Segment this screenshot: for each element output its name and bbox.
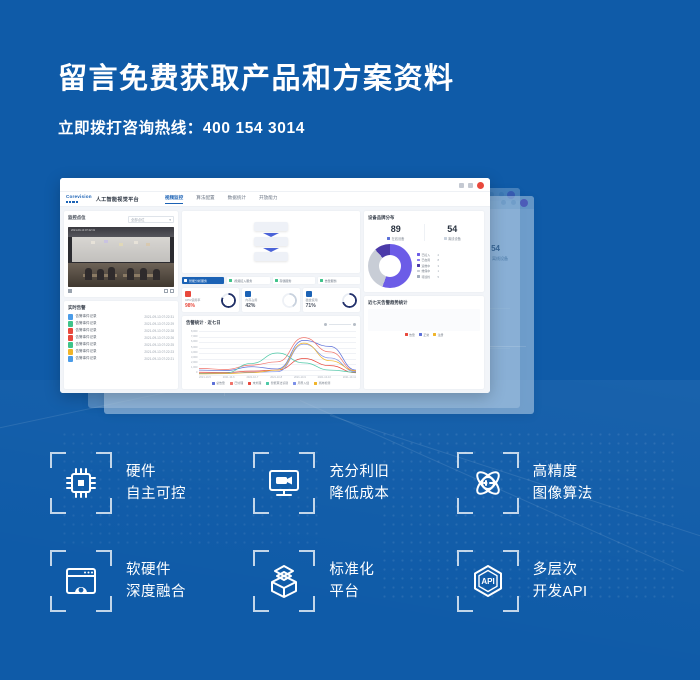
gauge-disk: 磁盘使用 71% xyxy=(303,288,360,312)
feature-line2: 开发API xyxy=(533,581,588,603)
memory-icon xyxy=(245,291,251,297)
list-item[interactable]: 告警事件记录 2021-09-13 07:22:31 xyxy=(68,314,174,320)
list-item[interactable]: 告警事件记录 2021-09-13 07:22:21 xyxy=(68,356,174,362)
feature-line1: 多层次 xyxy=(533,559,588,581)
event-type-icon xyxy=(68,356,73,362)
feature-line1: 硬件 xyxy=(126,461,186,483)
list-item[interactable]: 告警事件记录 2021-09-13 07:22:28 xyxy=(68,328,174,334)
api-icon: API xyxy=(470,563,506,599)
disk-icon xyxy=(306,291,312,297)
event-type-icon xyxy=(68,314,73,320)
chart-x-axis: 2021-10-5 2021-10-6 2021-10-7 2021-10-8 … xyxy=(199,376,356,379)
list-item[interactable]: 告警事件记录 2021-09-13 07:22:29 xyxy=(68,321,174,327)
status-dot-icon xyxy=(275,279,278,282)
logo-text: Corevision xyxy=(66,195,92,200)
feature-line1: 软硬件 xyxy=(126,559,186,581)
legend-item[interactable]: 待巡检5 xyxy=(417,275,439,279)
kpi-offline: 54 离线设备 xyxy=(424,224,481,241)
cpu-icon xyxy=(185,291,191,297)
feature-algorithm[interactable]: 高精度 图像算法 xyxy=(457,452,660,514)
dashboard-body: 监控点位 全部点位 ▾ xyxy=(60,207,490,393)
feature-line1: 充分利旧 xyxy=(329,461,389,483)
donut-legend: 已接入2 已启用8 运维中3 维保中1 待巡检5 xyxy=(417,253,439,279)
legend-item[interactable]: 运维中3 xyxy=(417,264,439,268)
event-panel-title: 实时告警 xyxy=(68,305,174,311)
chart-y-axis: 8,000 7,000 6,000 5,000 4,000 3,000 2,00… xyxy=(186,331,199,375)
tab-statistics[interactable]: 数据统计 xyxy=(228,195,246,203)
list-item[interactable]: 告警事件记录 2021-09-13 07:22:23 xyxy=(68,349,174,355)
page-title: 留言免费获取产品和方案资料 xyxy=(58,62,455,97)
feature-reuse[interactable]: 充分利旧 降低成本 xyxy=(253,452,456,514)
legend-item[interactable]: 总告警 xyxy=(212,381,225,385)
mini-chart-plot xyxy=(368,309,480,331)
feature-platform[interactable]: 标准化 平台 xyxy=(253,550,456,612)
gauge-ring xyxy=(342,293,357,308)
chip-icon xyxy=(63,465,99,501)
dashboard-window: Corevision 人工智能视觉平台 视频监控 算法配置 数据统计 开放能力 … xyxy=(60,178,490,393)
chip-video-service[interactable]: 视频接入服务 xyxy=(227,277,269,284)
device-summary-panel: 设备品牌分布 89 在线设备 54 离线设备 xyxy=(364,211,484,292)
feature-line1: 高精度 xyxy=(533,461,593,483)
stack-icon xyxy=(254,222,288,262)
device-donut-chart xyxy=(368,244,412,288)
chart-range-slider[interactable] xyxy=(324,323,356,326)
svg-text:API: API xyxy=(481,577,494,586)
feature-line1: 标准化 xyxy=(329,559,374,581)
kpi-online: 89 在线设备 xyxy=(368,224,424,241)
chart-legend: 总告警 已处理 未处理 智能算法识别 周界入侵 离岗检测 xyxy=(186,381,356,385)
kpi-row: 89 在线设备 54 离线设备 xyxy=(368,224,480,241)
status-dot-icon xyxy=(229,279,232,282)
device-summary-title: 设备品牌分布 xyxy=(368,215,480,221)
legend-item[interactable]: 周界入侵 xyxy=(293,381,309,385)
legend-item[interactable]: 未处理 xyxy=(248,381,261,385)
event-type-icon xyxy=(68,335,73,341)
feature-line2: 平台 xyxy=(329,581,374,603)
event-list[interactable]: 告警事件记录 2021-09-13 07:22:31 告警事件记录 2021-0… xyxy=(68,314,174,362)
tab-open-capability[interactable]: 开放能力 xyxy=(259,195,277,203)
online-dot-icon xyxy=(387,237,390,240)
chart-title: 告警统计 · 近七日 xyxy=(186,320,221,326)
legend-item[interactable]: 正常 xyxy=(419,333,429,337)
list-item[interactable]: 告警事件记录 2021-09-13 07:22:25 xyxy=(68,342,174,348)
legend-item[interactable]: 注册 xyxy=(433,333,443,337)
chip-storage-service[interactable]: 存储服务 xyxy=(273,277,315,284)
chart-lines xyxy=(199,331,356,375)
list-item[interactable]: 告警事件记录 2021-09-13 07:22:26 xyxy=(68,335,174,341)
feature-integration[interactable]: 软硬件 深度融合 xyxy=(50,550,253,612)
service-stack-panel xyxy=(182,211,360,273)
mini-chart-legend: 告警 正常 注册 xyxy=(368,333,480,337)
cube-icon xyxy=(266,563,302,599)
status-dot-icon xyxy=(184,279,187,282)
video-feed[interactable]: 2021-09-13 07:22:31 xyxy=(68,227,174,287)
feature-api[interactable]: API 多层次 开发API xyxy=(457,550,660,612)
feature-hardware[interactable]: 硬件 自主可控 xyxy=(50,452,253,514)
monitor-icon xyxy=(266,465,302,501)
video-timestamp: 2021-09-13 07:22:31 xyxy=(71,229,95,232)
gauge-ring xyxy=(282,293,297,308)
browser-gear-icon xyxy=(63,563,99,599)
legend-item[interactable]: 告警 xyxy=(405,333,415,337)
trend-chart-panel: 告警统计 · 近七日 8,000 7,000 6,000 5,000 4,000 xyxy=(182,316,360,389)
feature-line2: 自主可控 xyxy=(126,483,186,505)
legend-item[interactable]: 维保中1 xyxy=(417,269,439,273)
gauge-memory: 内存占用 42% xyxy=(242,288,299,312)
video-panel-title: 监控点位 xyxy=(68,215,86,221)
mini-trend-panel: 近七天告警趋势统计 告警 正常 注册 xyxy=(364,296,484,390)
event-type-icon xyxy=(68,342,73,348)
service-chip-row: 智能分析服务 视频接入服务 存储服务 告警服务 xyxy=(182,277,360,284)
tab-algorithm-config[interactable]: 算法配置 xyxy=(196,195,214,203)
camera-select[interactable]: 全部点位 ▾ xyxy=(128,216,174,223)
atom-icon xyxy=(470,465,506,501)
legend-item[interactable]: 已处理 xyxy=(230,381,243,385)
event-type-icon xyxy=(68,321,73,327)
chart-plot-area xyxy=(199,331,356,375)
app-navbar: Corevision 人工智能视觉平台 视频监控 算法配置 数据统计 开放能力 xyxy=(60,192,490,207)
window-titlebar xyxy=(60,178,490,192)
event-panel: 实时告警 告警事件记录 2021-09-13 07:22:31 告警事件记录 2… xyxy=(64,301,178,389)
camera-select-value: 全部点位 xyxy=(131,217,145,222)
grid-view-icon[interactable] xyxy=(164,289,168,293)
event-type-icon xyxy=(68,328,73,334)
feature-line2: 降低成本 xyxy=(329,483,389,505)
status-dot-icon xyxy=(320,279,323,282)
tab-video-monitor[interactable]: 视频监控 xyxy=(165,195,183,203)
snapshot-icon[interactable] xyxy=(68,289,72,293)
feature-line2: 图像算法 xyxy=(533,483,593,505)
legend-item[interactable]: 已接入2 xyxy=(417,253,439,257)
hotline-text: 立即拨打咨询热线：400 154 3014 xyxy=(58,116,455,138)
chip-ai-service[interactable]: 智能分析服务 xyxy=(182,277,224,284)
legend-item[interactable]: 智能算法识别 xyxy=(266,381,288,385)
close-icon[interactable] xyxy=(477,182,484,189)
feature-line2: 深度融合 xyxy=(126,581,186,603)
legend-item[interactable]: 离岗检测 xyxy=(314,381,330,385)
minimize-icon[interactable] xyxy=(459,183,464,188)
offline-dot-icon xyxy=(444,237,447,240)
legend-item[interactable]: 已启用8 xyxy=(417,258,439,262)
feature-grid: 硬件 自主可控 充分利旧 降低成本 xyxy=(50,452,660,612)
maximize-icon[interactable] xyxy=(468,183,473,188)
gauge-ring xyxy=(221,293,236,308)
app-logo: Corevision xyxy=(66,195,92,203)
promo-header: 留言免费获取产品和方案资料 立即拨打咨询热线：400 154 3014 xyxy=(58,62,455,138)
fullscreen-icon[interactable] xyxy=(170,289,174,293)
dashboard-screenshot: 54 离线设备 Corevision 人工智能视觉平台 视频监控 算法配置 数据… xyxy=(60,178,640,418)
app-name: 人工智能视觉平台 xyxy=(96,196,139,203)
video-panel: 监控点位 全部点位 ▾ xyxy=(64,211,178,297)
nav-tabs: 视频监控 算法配置 数据统计 开放能力 xyxy=(165,195,278,203)
chip-alarm-service[interactable]: 告警服务 xyxy=(318,277,360,284)
gauge-row: CPU使用率 98% 内存占用 42% xyxy=(182,288,360,312)
gauge-cpu: CPU使用率 98% xyxy=(182,288,239,312)
mini-chart-title: 近七天告警趋势统计 xyxy=(368,300,480,306)
event-type-icon xyxy=(68,349,73,355)
chevron-down-icon: ▾ xyxy=(169,218,171,222)
